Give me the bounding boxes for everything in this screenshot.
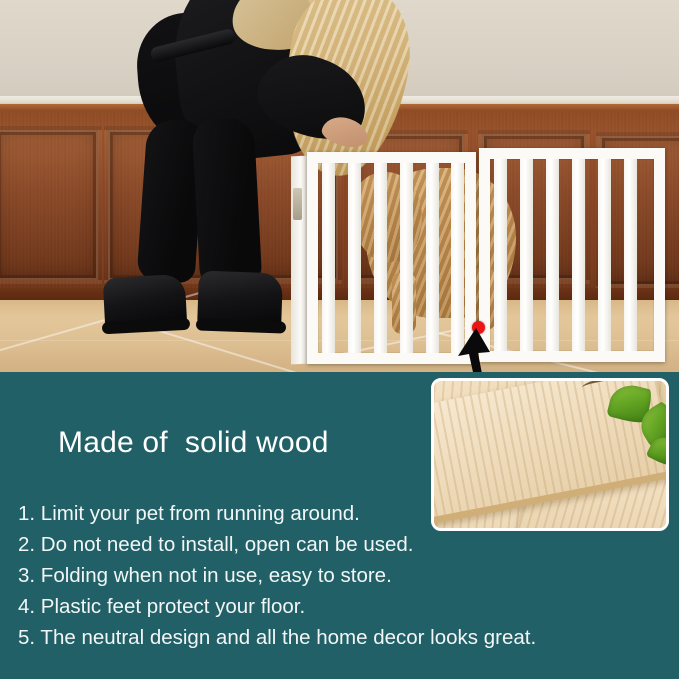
list-item: 2. Do not need to install, open can be u… <box>18 529 618 560</box>
list-item: 4. Plastic feet protect your floor. <box>18 591 618 622</box>
gate-panel-right <box>479 148 665 362</box>
gate-slats-left <box>318 163 465 353</box>
wood-detail-inset-photo <box>431 378 669 531</box>
gate-hinge <box>293 188 302 220</box>
woman-leg <box>192 116 263 287</box>
product-infographic: Made of solid wood 1. Limit your pet fro… <box>0 0 679 679</box>
gate-slats-right <box>490 159 654 351</box>
panel-title: Made of solid wood <box>58 426 329 460</box>
list-item: 5. The neutral design and all the home d… <box>18 622 618 653</box>
wainscot-panel <box>0 126 102 284</box>
feature-panel: Made of solid wood 1. Limit your pet fro… <box>0 372 679 679</box>
arrow-pointer-icon <box>452 326 494 372</box>
lifestyle-photo <box>0 0 679 372</box>
gate-hinge-edge <box>291 156 307 365</box>
list-item: 3. Folding when not in use, easy to stor… <box>18 560 618 591</box>
gate-panel-left <box>307 152 476 364</box>
